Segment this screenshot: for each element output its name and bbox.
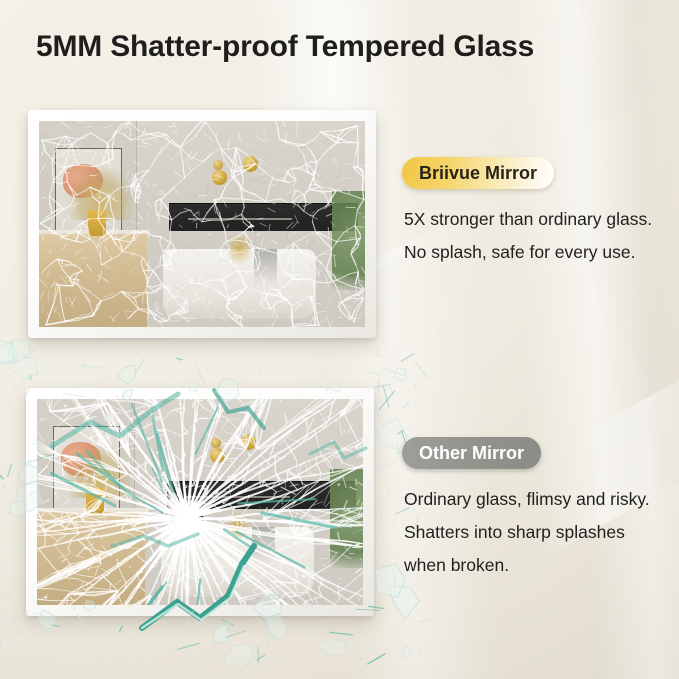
briivue-mirror-photo bbox=[28, 110, 376, 338]
crackle-pattern-overlay bbox=[39, 121, 365, 327]
product-comparison-graphic: 5MM Shatter-proof Tempered Glass Briivue… bbox=[0, 0, 679, 679]
badge-label: Other Mirror bbox=[419, 443, 524, 464]
mirror-glass-surface bbox=[39, 121, 365, 327]
other-mirror-photo bbox=[26, 388, 374, 616]
badge-label: Briivue Mirror bbox=[419, 163, 537, 184]
badge-other-mirror: Other Mirror bbox=[402, 437, 541, 469]
mirror-glass-surface bbox=[37, 399, 363, 605]
shatter-pattern-overlay bbox=[37, 399, 363, 605]
briivue-description: 5X stronger than ordinary glass. No spla… bbox=[404, 203, 662, 269]
badge-briivue-mirror: Briivue Mirror bbox=[402, 157, 554, 189]
other-description: Ordinary glass, flimsy and risky. Shatte… bbox=[404, 483, 662, 582]
page-title: 5MM Shatter-proof Tempered Glass bbox=[36, 30, 656, 64]
